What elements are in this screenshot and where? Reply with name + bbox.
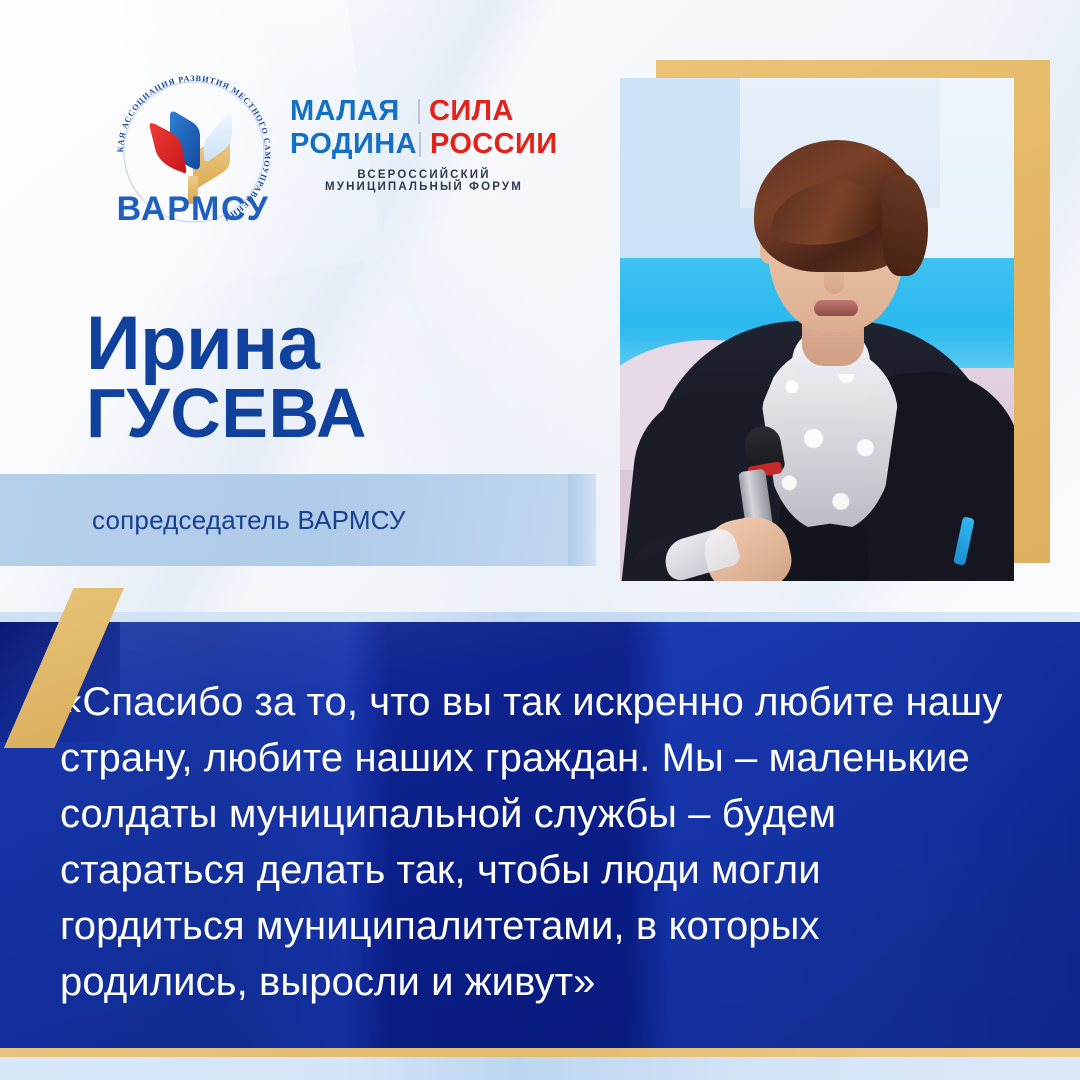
- speaker-first-name: Ирина: [86, 306, 319, 382]
- role-bar-edge-fade: [568, 474, 596, 566]
- varmsu-acronym: ВАРМСУ: [78, 190, 308, 229]
- speaker-role: сопредседатель ВАРМСУ: [92, 505, 406, 536]
- footer-strip: [0, 1057, 1080, 1080]
- forum-lockup-rows: МАЛАЯ СИЛА РОДИНА РОССИИ: [290, 95, 560, 161]
- quote-top-highlight-line: [0, 612, 1080, 622]
- speaker-last-name: ГУСЕВА: [86, 378, 367, 448]
- speaker-photo: [620, 78, 1014, 581]
- photo-mouth: [814, 300, 858, 316]
- quote-block: «Спасибо за то, что вы так искренно люби…: [0, 622, 1080, 1048]
- forum-word-sila: СИЛА: [429, 95, 560, 128]
- footer-gold-line: [0, 1048, 1080, 1057]
- forum-word-malaya: МАЛАЯ: [290, 95, 409, 128]
- forum-subtitle: ВСЕРОССИЙСКИЙ МУНИЦИПАЛЬНЫЙ ФОРУМ: [290, 169, 558, 193]
- forum-lockup: МАЛАЯ СИЛА РОДИНА РОССИИ ВСЕРОССИЙСКИЙ М…: [290, 95, 560, 193]
- quote-text: «Спасибо за то, что вы так искренно люби…: [60, 674, 1010, 1010]
- forum-word-rodina: РОДИНА: [290, 128, 410, 161]
- social-quote-card: ВСЕРОССИЙСКАЯ АССОЦИАЦИЯ РАЗВИТИЯ МЕСТНО…: [0, 0, 1080, 1080]
- forum-line-1: МАЛАЯ СИЛА: [290, 95, 560, 128]
- forum-divider-2: [419, 132, 421, 157]
- forum-line-2: РОДИНА РОССИИ: [290, 128, 560, 161]
- varmsu-logo: ВСЕРОССИЙСКАЯ АССОЦИАЦИЯ РАЗВИТИЯ МЕСТНО…: [78, 64, 308, 234]
- forum-word-rossii: РОССИИ: [430, 128, 560, 161]
- forum-divider: [418, 99, 420, 124]
